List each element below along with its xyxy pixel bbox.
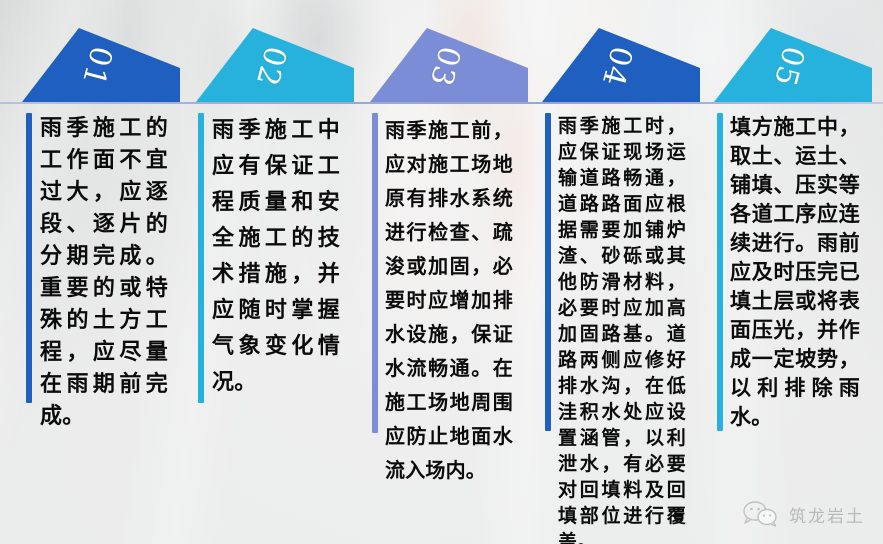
- accent-bar-01: [26, 113, 32, 403]
- watermark: 筑龙岩土: [741, 500, 865, 528]
- column-01: 01 雨季施工的工作面不宜过大，应逐段、逐片的分期完成。重要的或特殊的土方工程，…: [0, 0, 883, 544]
- banner-shape-01: [22, 28, 180, 102]
- column-01-body-text: 雨季施工的工作面不宜过大，应逐段、逐片的分期完成。重要的或特殊的土方工程，应尽量…: [40, 113, 168, 433]
- wechat-icon: [741, 500, 781, 528]
- column-02-body-text: 雨季施工中应有保证工程质量和安全施工的技术措施，并应随时掌握气象变化情况。: [212, 113, 340, 401]
- banner-shape-03: [370, 28, 528, 102]
- accent-bar-03: [372, 113, 378, 433]
- banner-shape-05: [714, 28, 872, 102]
- accent-bar-02: [198, 113, 204, 403]
- column-04-body-text: 雨季施工时，应保证现场运输道路畅通，道路路面应根据需要加铺炉渣、砂砾或其他防滑材…: [558, 113, 686, 544]
- banner-shape-04: [542, 28, 700, 102]
- column-05-body-text: 填方施工中，取土、运土、铺填、压实等各道工序应连续进行。雨前应及时压完已填土层或…: [730, 113, 860, 432]
- banner-shape-02: [196, 28, 354, 102]
- accent-bar-04: [545, 113, 551, 431]
- accent-bar-05: [717, 113, 723, 431]
- watermark-label: 筑龙岩土: [789, 502, 865, 527]
- slide-canvas: 01 雨季施工的工作面不宜过大，应逐段、逐片的分期完成。重要的或特殊的土方工程，…: [0, 0, 883, 544]
- column-03-body-text: 雨季施工前，应对施工场地原有排水系统进行检查、疏浚或加固，必要时应增加排水设施，…: [385, 113, 513, 487]
